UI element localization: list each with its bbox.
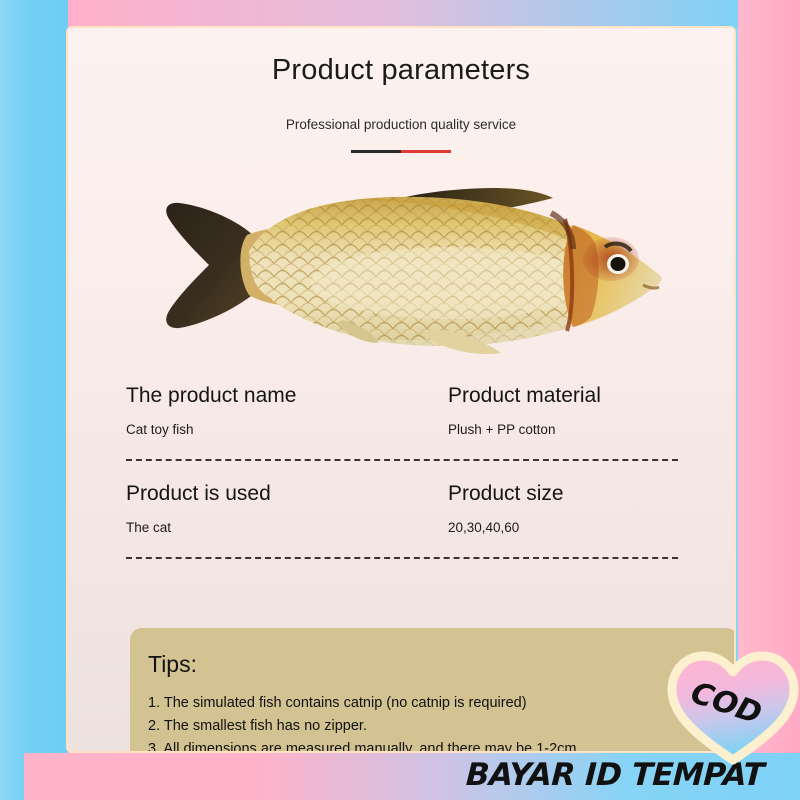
spec-label: Product size [448, 481, 728, 507]
product-card: Product parameters Professional producti… [66, 26, 736, 753]
spec-row: The product name Cat toy fish Product ma… [126, 383, 678, 481]
tips-heading: Tips: [148, 650, 736, 678]
spec-cell-product-size: Product size 20,30,40,60 [448, 481, 728, 537]
frame-left-rail [0, 0, 68, 800]
divider-red-half [401, 150, 451, 153]
list-item: 1. The simulated fish contains catnip (n… [148, 692, 736, 715]
spec-table: The product name Cat toy fish Product ma… [126, 383, 678, 579]
spec-divider [126, 459, 678, 461]
list-item: 3. All dimensions are measured manually,… [148, 738, 736, 753]
fish-toy-illustration [121, 173, 681, 358]
spec-row: Product is used The cat Product size 20,… [126, 481, 678, 579]
spec-label: Product material [448, 383, 728, 409]
title-divider [351, 150, 451, 153]
frame-top-band [68, 0, 738, 28]
spec-cell-product-material: Product material Plush + PP cotton [448, 383, 728, 439]
page-title: Product parameters [68, 54, 734, 87]
spec-value: Cat toy fish [126, 421, 406, 439]
spec-label: Product is used [126, 481, 406, 507]
spec-cell-product-name: The product name Cat toy fish [126, 383, 406, 439]
fish-eye-pupil [611, 257, 626, 271]
divider-dark-half [351, 150, 401, 153]
tips-panel: Tips: 1. The simulated fish contains cat… [130, 628, 736, 753]
spec-value: Plush + PP cotton [448, 421, 728, 439]
tips-list: 1. The simulated fish contains catnip (n… [148, 692, 736, 753]
promo-frame: Product parameters Professional producti… [0, 0, 800, 800]
cod-badge: COD [666, 644, 800, 766]
spec-cell-product-is-used: Product is used The cat [126, 481, 406, 537]
spec-label: The product name [126, 383, 406, 409]
page-subtitle: Professional production quality service [68, 117, 734, 132]
product-image [68, 173, 734, 373]
spec-value: 20,30,40,60 [448, 519, 728, 537]
spec-value: The cat [126, 519, 406, 537]
list-item: 2. The smallest fish has no zipper. [148, 715, 736, 738]
spec-divider [126, 557, 678, 559]
